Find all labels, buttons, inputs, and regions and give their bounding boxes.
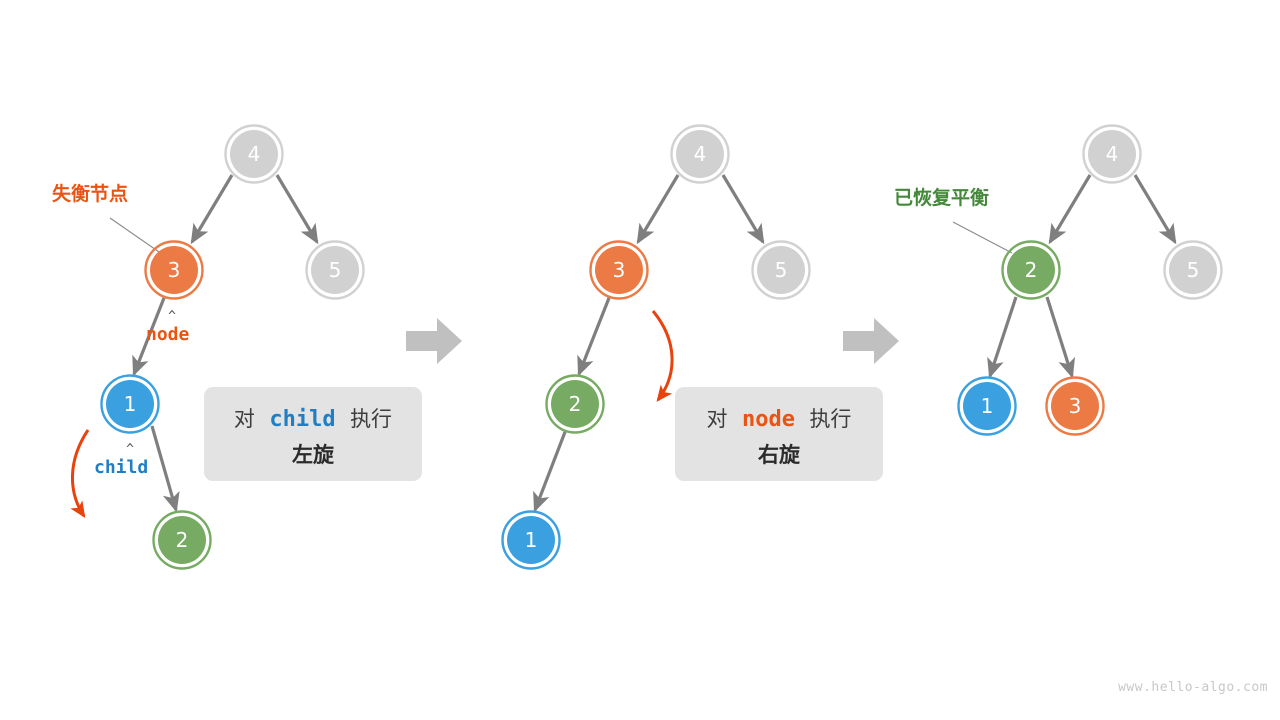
node-value: 1 (124, 392, 137, 416)
op-box-2-prefix: 对 (707, 407, 728, 431)
edge-1-to-2 (152, 426, 176, 510)
tree-step-1: 4 3 5 1 2 失衡节点 (52, 126, 364, 569)
node-4-step-3: 4 (1084, 126, 1141, 183)
tree-step-3: 4 2 5 1 3 已恢复平衡 (894, 126, 1222, 435)
node-2-step-1: 2 (154, 512, 211, 569)
annotation-unbalanced-node: 失衡节点 (52, 182, 128, 205)
edge-4-to-5 (277, 175, 317, 242)
watermark: www.hello-algo.com (1118, 680, 1268, 695)
node-1-step-2: 1 (503, 512, 560, 569)
node-4-step-2: 4 (672, 126, 729, 183)
node-5-step-3: 5 (1165, 242, 1222, 299)
edge-4-to-2 (1050, 175, 1090, 242)
op-box-1-suffix: 执行 (350, 407, 392, 431)
node-value: 4 (248, 142, 261, 166)
node-5-step-2: 5 (753, 242, 810, 299)
annotation-node: node (146, 324, 190, 345)
op-box-2-line2: 右旋 (758, 443, 801, 467)
node-2-step-2: 2 (547, 376, 604, 433)
node-value: 2 (1025, 258, 1038, 282)
annotation-rebalanced: 已恢复平衡 (894, 186, 989, 209)
leader-line-rebalanced (953, 222, 1012, 253)
edge-2-to-1 (535, 432, 565, 510)
edge-3-to-2 (579, 298, 609, 374)
node-1-step-3: 1 (959, 378, 1016, 435)
node-value: 1 (981, 394, 994, 418)
edge-4-to-5 (1135, 175, 1175, 242)
node-value: 2 (569, 392, 582, 416)
rotation-arrow-right-rotate (653, 311, 672, 400)
op-box-2-suffix: 执行 (809, 407, 851, 431)
node-value: 5 (775, 258, 788, 282)
edge-4-to-3 (192, 175, 232, 242)
node-5-step-1: 5 (307, 242, 364, 299)
node-value: 4 (694, 142, 707, 166)
diagram-canvas: 4 3 5 1 2 失衡节点 (0, 0, 1280, 720)
annotation-child: child (94, 457, 148, 478)
op-box-2-code: node (742, 407, 795, 432)
node-2-step-3: 2 (1003, 242, 1060, 299)
edge-2-to-1 (990, 297, 1016, 376)
transition-arrow-1 (406, 318, 462, 364)
rotation-arrow-left-rotate (72, 430, 88, 516)
edge-2-to-3 (1047, 297, 1072, 376)
node-value: 4 (1106, 142, 1119, 166)
node-value: 3 (168, 258, 181, 282)
node-value: 3 (1069, 394, 1082, 418)
op-box-1-prefix: 对 (234, 407, 255, 431)
node-4-step-1: 4 (226, 126, 283, 183)
caret-icon-node: ^ (168, 309, 176, 324)
node-value: 3 (613, 258, 626, 282)
edge-4-to-5 (723, 175, 763, 242)
node-1-step-1: 1 (102, 376, 159, 433)
tree-step-2: 4 3 5 2 1 (503, 126, 810, 569)
op-box-1-code: child (269, 407, 335, 432)
node-value: 5 (1187, 258, 1200, 282)
node-3-step-3: 3 (1047, 378, 1104, 435)
avl-rotation-diagram: 4 3 5 1 2 失衡节点 (0, 0, 1280, 720)
node-3-step-1: 3 (146, 242, 203, 299)
node-value: 2 (176, 528, 189, 552)
edge-4-to-3 (638, 175, 678, 242)
node-value: 1 (525, 528, 538, 552)
op-box-2: 对 node 执行 右旋 (675, 387, 883, 481)
caret-icon-child: ^ (126, 442, 134, 457)
op-box-1-line2: 左旋 (292, 443, 335, 467)
node-3-step-2: 3 (591, 242, 648, 299)
op-box-1: 对 child 执行 左旋 (204, 387, 422, 481)
transition-arrow-2 (843, 318, 899, 364)
node-value: 5 (329, 258, 342, 282)
